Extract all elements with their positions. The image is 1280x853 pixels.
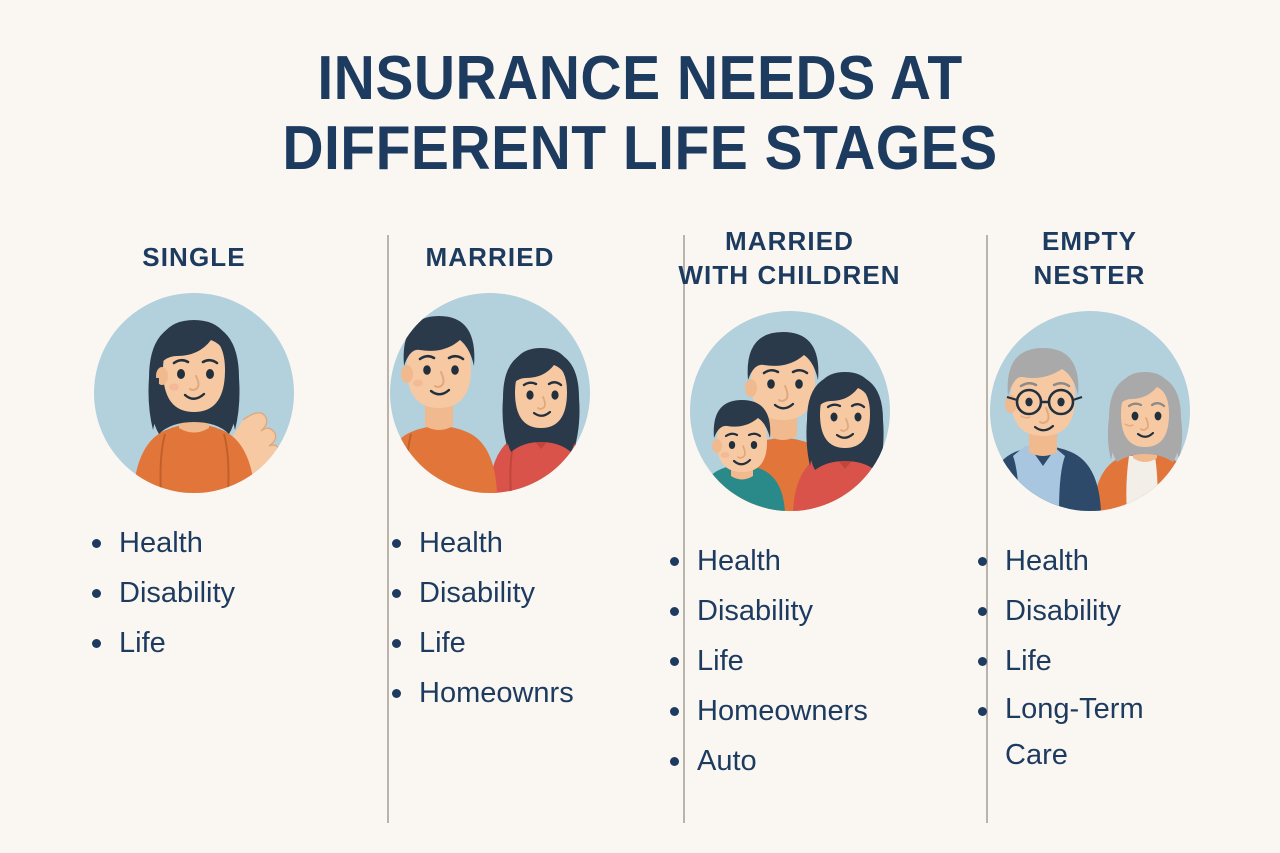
list-item: Homeowners <box>668 686 868 736</box>
need-label: Disability <box>419 577 535 609</box>
need-label: Health <box>1005 545 1089 577</box>
bullet-icon <box>670 657 679 666</box>
list-item: Health <box>976 536 1144 586</box>
column-heading-line: EMPTY <box>1033 224 1145 258</box>
list-item: Life <box>390 618 574 668</box>
life-stage-column-married-with-children: MARRIED WITH CHILDREN <box>638 232 941 832</box>
list-item: Disability <box>90 568 235 618</box>
column-heading-single: SINGLE <box>142 240 245 274</box>
elderly-couple-avatar <box>989 310 1191 512</box>
list-item: Auto <box>668 736 868 786</box>
needs-list-empty-nester: Health Disability Life Long-Term Care <box>976 536 1144 778</box>
bullet-icon <box>978 607 987 616</box>
list-item: Health <box>90 518 235 568</box>
need-label: Homeownrs <box>419 677 574 709</box>
life-stage-columns: SINGLE <box>46 232 1238 832</box>
column-heading-empty-nester: EMPTY NESTER <box>1033 224 1145 292</box>
bullet-icon <box>978 557 987 566</box>
bullet-icon <box>978 657 987 666</box>
bullet-icon <box>392 539 401 548</box>
page-title: INSURANCE NEEDS AT DIFFERENT LIFE STAGES <box>0 44 1280 184</box>
need-label: Health <box>119 527 203 559</box>
need-label: Life <box>697 645 744 677</box>
list-item: Disability <box>390 568 574 618</box>
needs-list-married: Health Disability Life Homeownrs <box>390 518 574 718</box>
need-label: Life <box>1005 645 1052 677</box>
need-label: Long-Term Care <box>1005 693 1144 771</box>
life-stage-column-single: SINGLE <box>46 232 342 832</box>
need-label: Auto <box>697 745 757 777</box>
list-item: Homeownrs <box>390 668 574 718</box>
list-item: Long-Term Care <box>976 686 1144 778</box>
column-heading-line: SINGLE <box>142 240 245 274</box>
life-stage-column-married: MARRIED <box>342 232 638 832</box>
bullet-icon <box>92 589 101 598</box>
list-item: Health <box>390 518 574 568</box>
life-stage-column-empty-nester: EMPTY NESTER <box>941 232 1238 832</box>
list-item: Health <box>668 536 868 586</box>
need-label: Life <box>419 627 466 659</box>
infographic-page: INSURANCE NEEDS AT DIFFERENT LIFE STAGES… <box>0 0 1280 853</box>
bullet-icon <box>978 707 987 716</box>
needs-list-single: Health Disability Life <box>90 518 235 668</box>
need-label: Life <box>119 627 166 659</box>
list-item: Life <box>90 618 235 668</box>
bullet-icon <box>392 589 401 598</box>
bullet-icon <box>392 639 401 648</box>
title-line-2: DIFFERENT LIFE STAGES <box>51 114 1229 184</box>
list-item: Disability <box>976 586 1144 636</box>
list-item: Life <box>668 636 868 686</box>
need-label: Health <box>697 545 781 577</box>
bullet-icon <box>392 689 401 698</box>
column-heading-married: MARRIED <box>425 240 554 274</box>
bullet-icon <box>92 639 101 648</box>
title-line-1: INSURANCE NEEDS AT <box>51 44 1229 114</box>
need-label: Health <box>419 527 503 559</box>
bullet-icon <box>670 707 679 716</box>
needs-list-married-with-children: Health Disability Life Homeowners Auto <box>668 536 868 786</box>
list-item: Disability <box>668 586 868 636</box>
column-heading-married-with-children: MARRIED WITH CHILDREN <box>678 224 900 292</box>
single-woman-waving-avatar <box>93 292 295 494</box>
need-label: Homeowners <box>697 695 868 727</box>
column-heading-line: NESTER <box>1033 258 1145 292</box>
column-heading-line: MARRIED <box>425 240 554 274</box>
married-couple-avatar <box>389 292 591 494</box>
need-label: Disability <box>697 595 813 627</box>
need-label: Disability <box>1005 595 1121 627</box>
family-with-child-avatar <box>689 310 891 512</box>
bullet-icon <box>670 607 679 616</box>
column-heading-line: MARRIED <box>678 224 900 258</box>
column-heading-line: WITH CHILDREN <box>678 258 900 292</box>
bullet-icon <box>92 539 101 548</box>
need-label: Disability <box>119 577 235 609</box>
bullet-icon <box>670 557 679 566</box>
bullet-icon <box>670 757 679 766</box>
list-item: Life <box>976 636 1144 686</box>
